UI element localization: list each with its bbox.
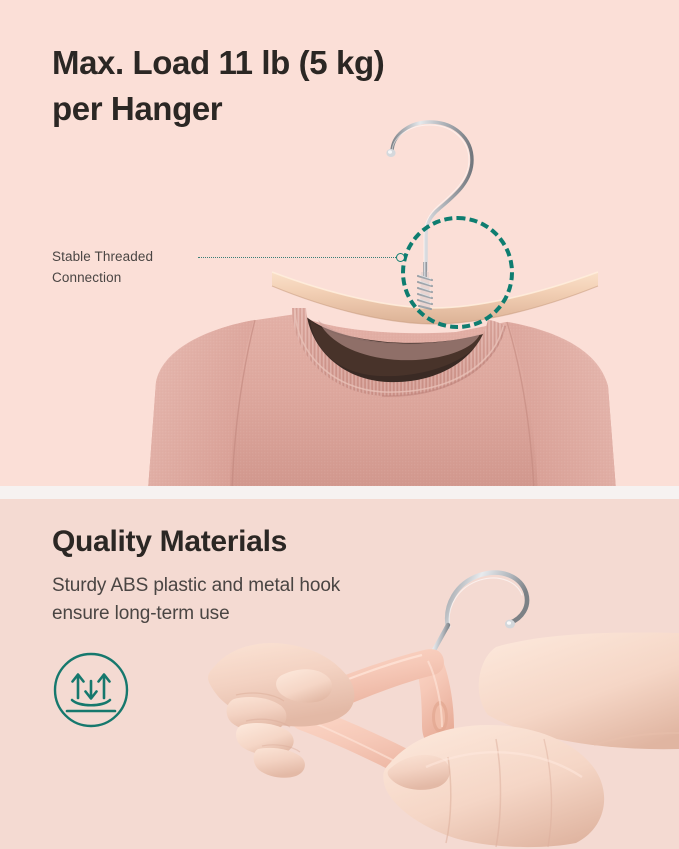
panel-divider (0, 486, 679, 499)
section-title-quality-materials: Quality Materials (52, 523, 287, 561)
page-title: Max. Load 11 lb (5 kg) per Hanger (52, 40, 482, 132)
callout-leader-line (198, 257, 398, 259)
durability-flex-icon (52, 651, 130, 729)
product-feature-image: Stable Threaded Connection Max. Load 11 … (0, 0, 679, 849)
panel-quality-materials: Quality Materials Sturdy ABS plastic and… (0, 499, 679, 849)
callout-stable-threaded-connection: Stable Threaded Connection (52, 246, 202, 288)
callout-marker-icon (396, 253, 405, 262)
panel-max-load: Stable Threaded Connection Max. Load 11 … (0, 0, 679, 486)
section-subtitle: Sturdy ABS plastic and metal hook ensure… (52, 572, 422, 628)
highlight-circle (401, 216, 514, 329)
